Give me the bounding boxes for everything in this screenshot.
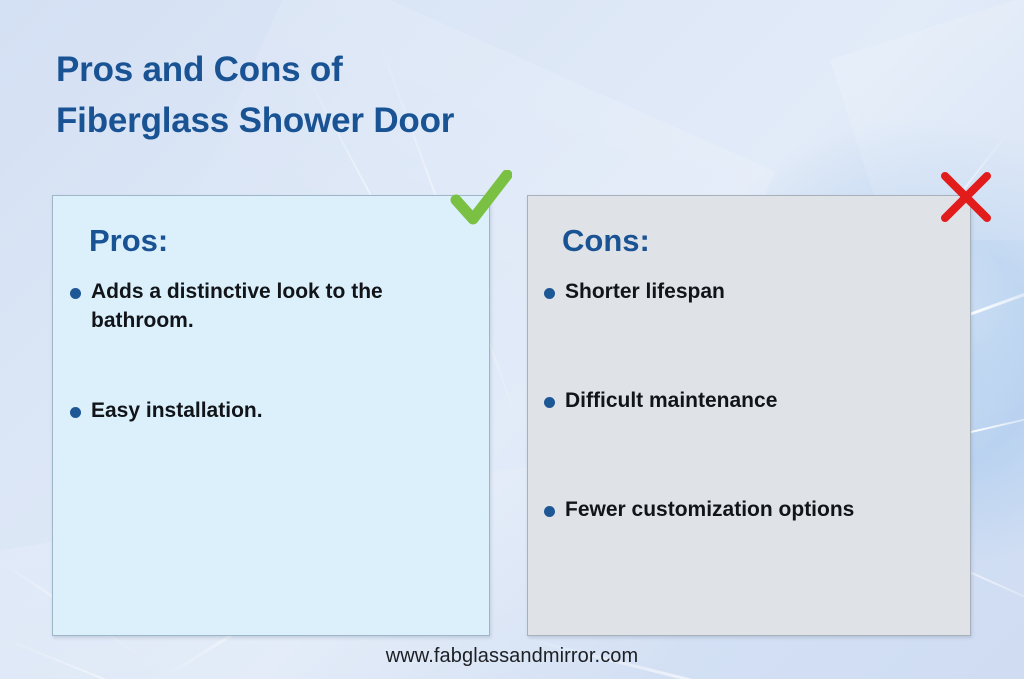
cons-list: Shorter lifespan Difficult maintenance F…	[541, 278, 958, 604]
pros-heading: Pros:	[89, 223, 168, 259]
list-item: Easy installation.	[67, 397, 477, 426]
list-item: Adds a distinctive look to the bathroom.	[67, 278, 477, 336]
infographic-canvas: Pros and Cons of Fiberglass Shower Door …	[0, 0, 1024, 679]
list-item: Difficult maintenance	[541, 387, 958, 416]
footer-website-url: www.fabglassandmirror.com	[0, 645, 1024, 668]
pros-list: Adds a distinctive look to the bathroom.…	[67, 278, 477, 486]
pros-card: Pros: Adds a distinctive look to the bat…	[52, 195, 490, 636]
list-item: Fewer customization options	[541, 496, 958, 525]
page-title: Pros and Cons of Fiberglass Shower Door	[56, 44, 454, 147]
cons-heading: Cons:	[562, 223, 650, 259]
list-item: Shorter lifespan	[541, 278, 958, 307]
cons-card: Cons: Shorter lifespan Difficult mainten…	[527, 195, 971, 636]
